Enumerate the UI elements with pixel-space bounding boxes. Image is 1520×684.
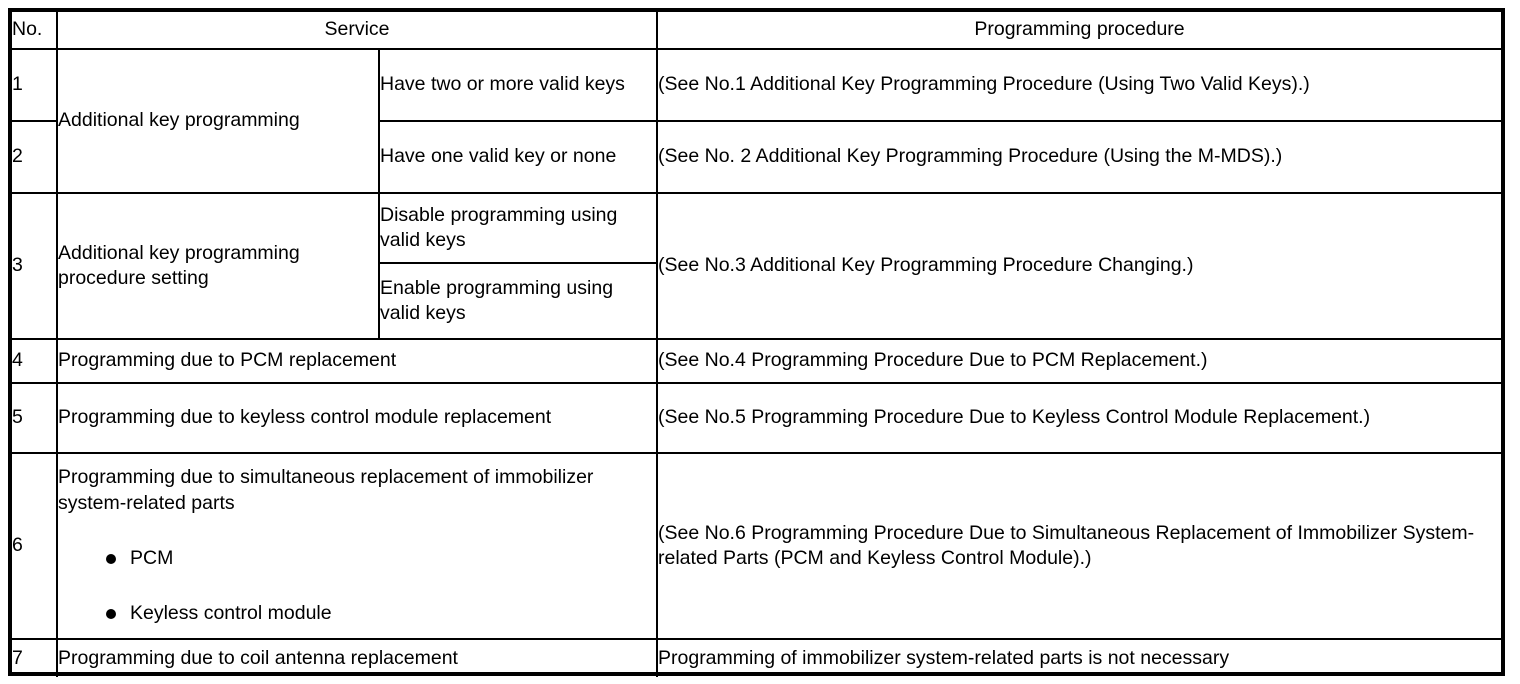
list-item: PCM xyxy=(58,546,656,571)
service-parts-list: PCM Keyless control module xyxy=(58,546,656,627)
bullet-dot-icon xyxy=(106,554,116,564)
service-simultaneous-replacement: Programming due to simultaneous replacem… xyxy=(57,453,657,639)
table-row: 6 Programming due to simultaneous replac… xyxy=(12,453,1501,639)
row-number: 5 xyxy=(12,383,57,453)
row-number: 2 xyxy=(12,121,57,193)
procedure-row-2: (See No. 2 Additional Key Programming Pr… xyxy=(657,121,1501,193)
header-procedure: Programming procedure xyxy=(657,12,1501,49)
service-coil-antenna-replacement: Programming due to coil antenna replacem… xyxy=(57,639,657,677)
procedure-row-5: (See No.5 Programming Procedure Due to K… xyxy=(657,383,1501,453)
service-sub-enable-programming: Enable programming using valid keys xyxy=(379,263,657,339)
table-row: 7 Programming due to coil antenna replac… xyxy=(12,639,1501,677)
service-keyless-control-module-replacement: Programming due to keyless control modul… xyxy=(57,383,657,453)
procedure-row-6: (See No.6 Programming Procedure Due to S… xyxy=(657,453,1501,639)
service-sub-disable-programming: Disable programming using valid keys xyxy=(379,193,657,263)
row-number: 3 xyxy=(12,193,57,339)
list-item-label: Keyless control module xyxy=(130,602,332,624)
table-row: 4 Programming due to PCM replacement (Se… xyxy=(12,339,1501,383)
table-row: 5 Programming due to keyless control mod… xyxy=(12,383,1501,453)
table-row: 1 Additional key programming Have two or… xyxy=(12,49,1501,121)
table-row: 3 Additional key programming procedure s… xyxy=(12,193,1501,263)
programming-procedure-table: No. Service Programming procedure 1 Addi… xyxy=(8,8,1505,676)
procedure-row-1: (See No.1 Additional Key Programming Pro… xyxy=(657,49,1501,121)
table-header-row: No. Service Programming procedure xyxy=(12,12,1501,49)
list-item-label: PCM xyxy=(130,547,173,569)
header-no: No. xyxy=(12,12,57,49)
row-number: 1 xyxy=(12,49,57,121)
list-item: Keyless control module xyxy=(58,601,656,626)
service-main-additional-key-programming: Additional key programming xyxy=(57,49,379,193)
procedure-row-4: (See No.4 Programming Procedure Due to P… xyxy=(657,339,1501,383)
service-procedure-grid: No. Service Programming procedure 1 Addi… xyxy=(12,12,1501,677)
row-number: 4 xyxy=(12,339,57,383)
service-lead-text: Programming due to simultaneous replacem… xyxy=(58,465,656,516)
service-pcm-replacement: Programming due to PCM replacement xyxy=(57,339,657,383)
bullet-dot-icon xyxy=(106,609,116,619)
row-number: 7 xyxy=(12,639,57,677)
service-sub-one-valid-key-or-none: Have one valid key or none xyxy=(379,121,657,193)
service-main-programming-procedure-setting: Additional key programming procedure set… xyxy=(57,193,379,339)
service-sub-two-or-more-valid-keys: Have two or more valid keys xyxy=(379,49,657,121)
procedure-row-3: (See No.3 Additional Key Programming Pro… xyxy=(657,193,1501,339)
procedure-row-7: Programming of immobilizer system-relate… xyxy=(657,639,1501,677)
row-number: 6 xyxy=(12,453,57,639)
header-service: Service xyxy=(57,12,657,49)
